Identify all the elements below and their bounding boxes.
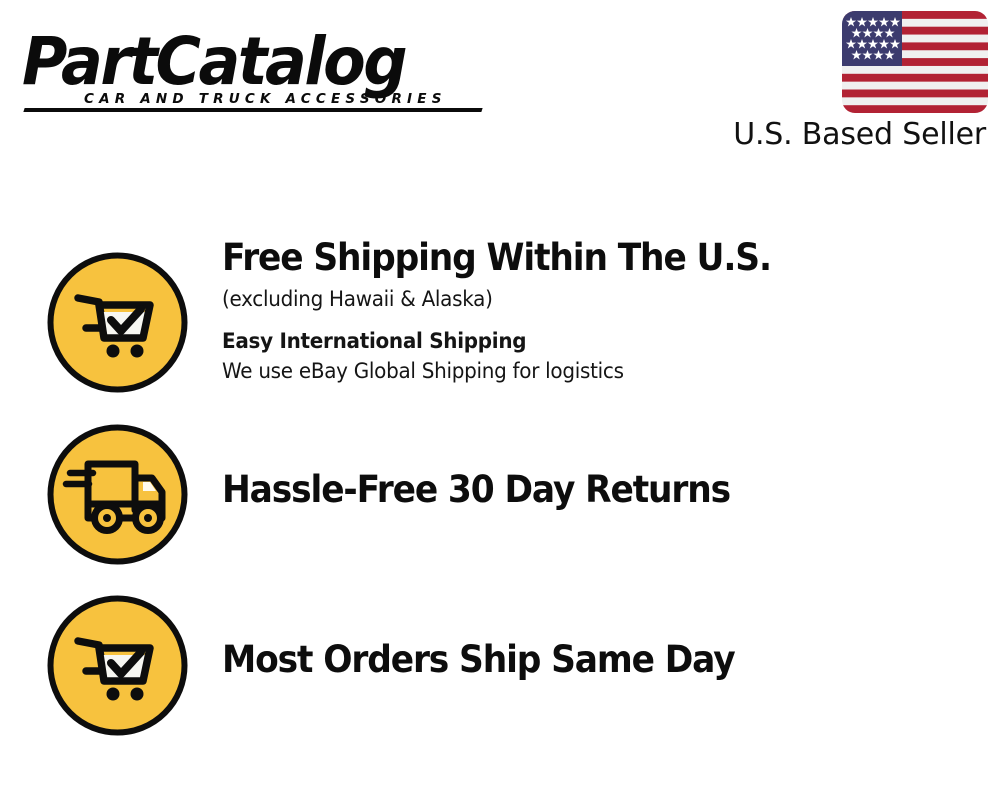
us-based-seller-label: U.S. Based Seller bbox=[733, 116, 986, 154]
shopping-cart-check-icon bbox=[45, 593, 190, 738]
feature-row: Most Orders Ship Same Day bbox=[0, 578, 1000, 749]
feature-title: Hassle-Free 30 Day Returns bbox=[222, 468, 927, 512]
logo-wordmark: PartCatalog bbox=[22, 28, 492, 96]
feature-note: (excluding Hawaii & Alaska) bbox=[222, 284, 942, 314]
delivery-truck-icon bbox=[45, 422, 190, 567]
feature-text-block: Most Orders Ship Same Day bbox=[222, 638, 980, 682]
feature-row: Free Shipping Within The U.S. (excluding… bbox=[0, 236, 1000, 407]
feature-subtitle: Easy International Shipping bbox=[222, 326, 942, 356]
us-flag-icon bbox=[842, 11, 988, 113]
page-header: PartCatalog CAR AND TRUCK ACCESSORIES bbox=[0, 0, 1000, 175]
feature-text-block: Hassle-Free 30 Day Returns bbox=[222, 468, 980, 512]
feature-subnote: We use eBay Global Shipping for logistic… bbox=[222, 356, 942, 386]
shopping-cart-check-icon bbox=[45, 250, 190, 395]
feature-text-block: Free Shipping Within The U.S. (excluding… bbox=[222, 236, 980, 386]
feature-row: Hassle-Free 30 Day Returns bbox=[0, 407, 1000, 578]
feature-title: Most Orders Ship Same Day bbox=[222, 638, 927, 682]
features-list: Free Shipping Within The U.S. (excluding… bbox=[0, 236, 1000, 749]
logo-tagline: CAR AND TRUCK ACCESSORIES bbox=[84, 91, 447, 107]
logo-underline-rule bbox=[23, 108, 482, 112]
brand-logo[interactable]: PartCatalog CAR AND TRUCK ACCESSORIES bbox=[22, 28, 492, 92]
feature-title: Free Shipping Within The U.S. bbox=[222, 236, 927, 280]
